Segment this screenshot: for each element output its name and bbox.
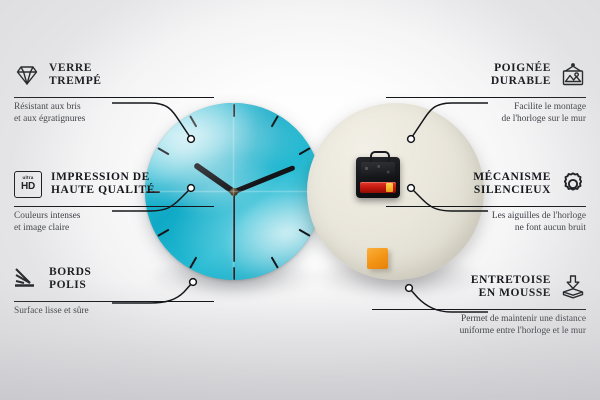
infographic-canvas: VERRE TREMPÉ Résistant aux bris et aux é… xyxy=(0,0,600,400)
vignette-overlay xyxy=(0,0,600,400)
